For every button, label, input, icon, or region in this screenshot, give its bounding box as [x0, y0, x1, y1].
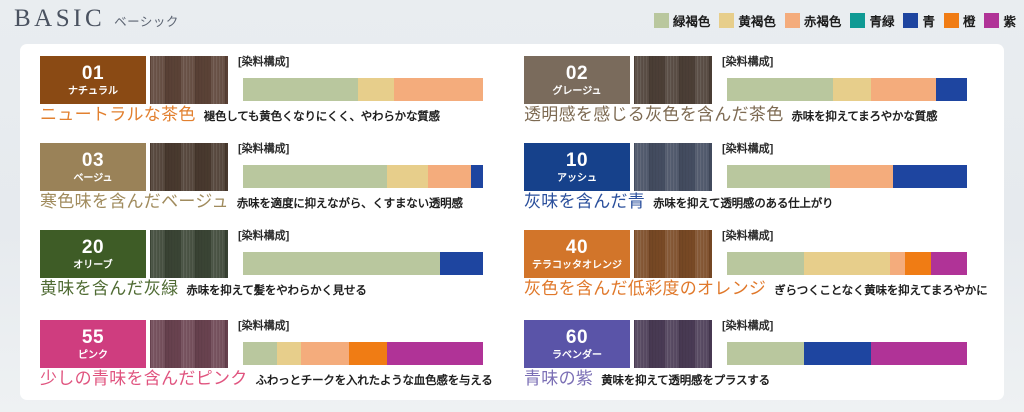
color-name: オリーブ: [73, 261, 112, 271]
color-description: 青味の紫黄味を抑えて透明感をプラスする: [524, 370, 770, 388]
color-number: 40: [566, 238, 588, 257]
dye-segment: [387, 165, 428, 188]
color-card-top: 20オリーブ[染料構成]: [34, 230, 508, 278]
dye-segment: [243, 342, 277, 365]
page-title: BASIC: [14, 5, 105, 33]
dye-composition-bar: [243, 165, 483, 188]
dye-composition-bar: [243, 252, 483, 275]
dye-composition-bar: [727, 342, 967, 365]
color-description-main: 寒色味を含んだベージュ: [40, 193, 229, 210]
color-description-main: 青味の紫: [524, 370, 593, 387]
dye-composition-label: [染料構成]: [238, 144, 503, 155]
dye-segment: [440, 252, 483, 275]
color-card[interactable]: 10アッシュ[染料構成]灰味を含んだ青赤味を抑えて透明感のある仕上がり: [518, 143, 992, 230]
color-description-sub: 黄味を抑えて透明感をプラスする: [601, 376, 770, 388]
color-card[interactable]: 55ピンク[染料構成]少しの青味を含んだピンクふわっとチークを入れたような血色感…: [34, 320, 508, 407]
dye-segment: [471, 165, 483, 188]
color-number: 20: [82, 238, 104, 257]
legend-item: 青緑: [850, 11, 894, 30]
dye-composition-bar: [243, 78, 483, 101]
dye-composition: [染料構成]: [722, 56, 987, 104]
color-card[interactable]: 03ベージュ[染料構成]寒色味を含んだベージュ赤味を適度に抑えながら、くすまない…: [34, 143, 508, 230]
color-chip-icon: [719, 13, 734, 28]
color-description-main: 灰色を含んだ低彩度のオレンジ: [524, 280, 766, 297]
hair-sample-image: [634, 230, 712, 278]
hair-sample-image: [634, 143, 712, 191]
dye-composition-label: [染料構成]: [238, 57, 503, 68]
dye-segment: [905, 252, 931, 275]
color-card[interactable]: 40テラコッタオレンジ[染料構成]灰色を含んだ低彩度のオレンジぎらつくことなく黄…: [518, 230, 992, 317]
color-description-main: 灰味を含んだ青: [524, 193, 645, 210]
color-description-sub: ふわっとチークを入れたような血色感を与える: [256, 376, 493, 388]
dye-composition-bar: [727, 252, 967, 275]
color-swatch[interactable]: 02グレージュ: [524, 56, 630, 104]
legend-item-label: 青: [922, 11, 935, 30]
legend: 緑褐色黄褐色赤褐色青緑青橙紫: [654, 11, 1016, 30]
color-name: アッシュ: [557, 174, 597, 184]
hair-sample-image: [634, 56, 712, 104]
dye-composition: [染料構成]: [238, 320, 503, 368]
color-chip-icon: [903, 13, 918, 28]
dye-composition-label: [染料構成]: [722, 231, 987, 242]
color-chip-icon: [654, 13, 669, 28]
legend-item: 黄褐色: [719, 11, 776, 30]
dye-segment: [301, 342, 349, 365]
color-description: ニュートラルな茶色褪色しても黄色くなりにくく、やわらかな質感: [40, 106, 440, 124]
color-description-main: 透明感を感じる灰色を含んだ茶色: [524, 106, 784, 123]
dye-segment: [890, 252, 904, 275]
color-card-top: 02グレージュ[染料構成]: [518, 56, 992, 104]
dye-segment: [804, 342, 871, 365]
color-number: 03: [82, 151, 104, 170]
dye-composition-label: [染料構成]: [722, 144, 987, 155]
dye-segment: [428, 165, 471, 188]
color-description: 灰味を含んだ青赤味を抑えて透明感のある仕上がり: [524, 193, 833, 211]
hair-sample-image: [150, 56, 228, 104]
page-title-kana: ベーシック: [114, 11, 179, 30]
color-card-top: 03ベージュ[染料構成]: [34, 143, 508, 191]
color-name: テラコッタオレンジ: [532, 261, 622, 271]
color-name: グレージュ: [552, 87, 601, 97]
dye-segment: [893, 165, 967, 188]
color-card[interactable]: 20オリーブ[染料構成]黄味を含んだ灰緑赤味を抑えて髪をやわらかく見せる: [34, 230, 508, 317]
color-card[interactable]: 60ラベンダー[染料構成]青味の紫黄味を抑えて透明感をプラスする: [518, 320, 992, 407]
dye-composition: [染料構成]: [238, 230, 503, 278]
color-swatch[interactable]: 03ベージュ: [40, 143, 146, 191]
dye-composition-bar: [727, 78, 967, 101]
color-swatch[interactable]: 40テラコッタオレンジ: [524, 230, 630, 278]
dye-composition-bar: [243, 342, 483, 365]
color-description-sub: 褪色しても黄色くなりにくく、やわらかな質感: [204, 112, 440, 124]
dye-segment: [871, 342, 967, 365]
color-description-main: 黄味を含んだ灰緑: [40, 280, 178, 297]
legend-item: 緑褐色: [654, 11, 711, 30]
color-number: 10: [566, 151, 588, 170]
dye-segment: [349, 342, 387, 365]
color-card-grid: 01ナチュラル[染料構成]ニュートラルな茶色褪色しても黄色くなりにくく、やわらか…: [20, 44, 1004, 400]
color-swatch[interactable]: 55ピンク: [40, 320, 146, 368]
page-root: BASIC ベーシック 緑褐色黄褐色赤褐色青緑青橙紫 01ナチュラル[染料構成]…: [0, 0, 1024, 412]
dye-segment: [727, 165, 830, 188]
legend-item-label: 青緑: [869, 11, 894, 30]
color-swatch[interactable]: 20オリーブ: [40, 230, 146, 278]
hair-sample-image: [150, 143, 228, 191]
dye-composition-label: [染料構成]: [722, 57, 987, 68]
legend-item: 橙: [944, 11, 976, 30]
color-description-main: 少しの青味を含んだピンク: [40, 370, 248, 387]
color-card[interactable]: 01ナチュラル[染料構成]ニュートラルな茶色褪色しても黄色くなりにくく、やわらか…: [34, 56, 508, 143]
color-description-sub: ぎらつくことなく黄味を抑えてまろやかに: [774, 286, 987, 298]
hair-sample-image: [634, 320, 712, 368]
color-name: ピンク: [78, 351, 108, 361]
color-number: 01: [82, 64, 104, 83]
color-description-sub: 赤味を抑えて髪をやわらかく見せる: [186, 286, 366, 298]
color-card[interactable]: 02グレージュ[染料構成]透明感を感じる灰色を含んだ茶色赤味を抑えてまろやかな質…: [518, 56, 992, 143]
legend-item: 赤褐色: [785, 11, 842, 30]
legend-item-label: 紫: [1003, 11, 1016, 30]
color-description: 灰色を含んだ低彩度のオレンジぎらつくことなく黄味を抑えてまろやかに: [524, 280, 987, 298]
color-number: 02: [566, 64, 588, 83]
color-card-top: 40テラコッタオレンジ[染料構成]: [518, 230, 992, 278]
color-description-main: ニュートラルな茶色: [40, 106, 196, 123]
dye-composition: [染料構成]: [722, 320, 987, 368]
dye-segment: [243, 252, 440, 275]
dye-segment: [243, 165, 387, 188]
color-card-top: 55ピンク[染料構成]: [34, 320, 508, 368]
basic-color-panel: 01ナチュラル[染料構成]ニュートラルな茶色褪色しても黄色くなりにくく、やわらか…: [20, 44, 1004, 400]
color-swatch[interactable]: 01ナチュラル: [40, 56, 146, 104]
dye-segment: [830, 165, 892, 188]
color-swatch[interactable]: 60ラベンダー: [524, 320, 630, 368]
color-number: 55: [82, 328, 104, 347]
legend-item-label: 赤褐色: [804, 11, 842, 30]
brand: BASIC ベーシック: [14, 5, 179, 33]
color-description: 透明感を感じる灰色を含んだ茶色赤味を抑えてまろやかな質感: [524, 106, 937, 124]
color-chip-icon: [850, 13, 865, 28]
dye-segment: [936, 78, 967, 101]
legend-item: 青: [903, 11, 935, 30]
color-chip-icon: [785, 13, 800, 28]
color-description-sub: 赤味を抑えてまろやかな質感: [792, 112, 938, 124]
legend-item-label: 緑褐色: [673, 11, 711, 30]
dye-segment: [833, 78, 871, 101]
dye-segment: [387, 342, 483, 365]
dye-segment: [727, 78, 833, 101]
color-description: 黄味を含んだ灰緑赤味を抑えて髪をやわらかく見せる: [40, 280, 367, 298]
dye-segment: [277, 342, 301, 365]
dye-composition: [染料構成]: [722, 143, 987, 191]
dye-segment: [394, 78, 483, 101]
dye-composition-label: [染料構成]: [238, 321, 503, 332]
dye-composition-bar: [727, 165, 967, 188]
color-chip-icon: [944, 13, 959, 28]
dye-segment: [727, 342, 804, 365]
color-description: 寒色味を含んだベージュ赤味を適度に抑えながら、くすまない透明感: [40, 193, 463, 211]
color-name: ラベンダー: [552, 351, 602, 361]
color-number: 60: [566, 328, 588, 347]
color-swatch[interactable]: 10アッシュ: [524, 143, 630, 191]
dye-segment: [931, 252, 967, 275]
color-card-top: 01ナチュラル[染料構成]: [34, 56, 508, 104]
color-card-top: 60ラベンダー[染料構成]: [518, 320, 992, 368]
dye-segment: [871, 78, 936, 101]
color-chip-icon: [984, 13, 999, 28]
color-description: 少しの青味を含んだピンクふわっとチークを入れたような血色感を与える: [40, 370, 493, 388]
dye-composition: [染料構成]: [722, 230, 987, 278]
dye-composition: [染料構成]: [238, 56, 503, 104]
dye-composition-label: [染料構成]: [722, 321, 987, 332]
color-description-sub: 赤味を抑えて透明感のある仕上がり: [653, 199, 833, 211]
dye-segment: [804, 252, 890, 275]
dye-segment: [727, 252, 804, 275]
hair-sample-image: [150, 320, 228, 368]
legend-item-label: 黄褐色: [738, 11, 776, 30]
color-name: ナチュラル: [68, 87, 118, 97]
color-description-sub: 赤味を適度に抑えながら、くすまない透明感: [237, 199, 463, 211]
dye-segment: [243, 78, 358, 101]
color-card-top: 10アッシュ[染料構成]: [518, 143, 992, 191]
legend-item: 紫: [984, 11, 1016, 30]
dye-composition-label: [染料構成]: [238, 231, 503, 242]
color-name: ベージュ: [73, 174, 112, 184]
hair-sample-image: [150, 230, 228, 278]
dye-segment: [358, 78, 394, 101]
dye-composition: [染料構成]: [238, 143, 503, 191]
legend-item-label: 橙: [963, 11, 976, 30]
